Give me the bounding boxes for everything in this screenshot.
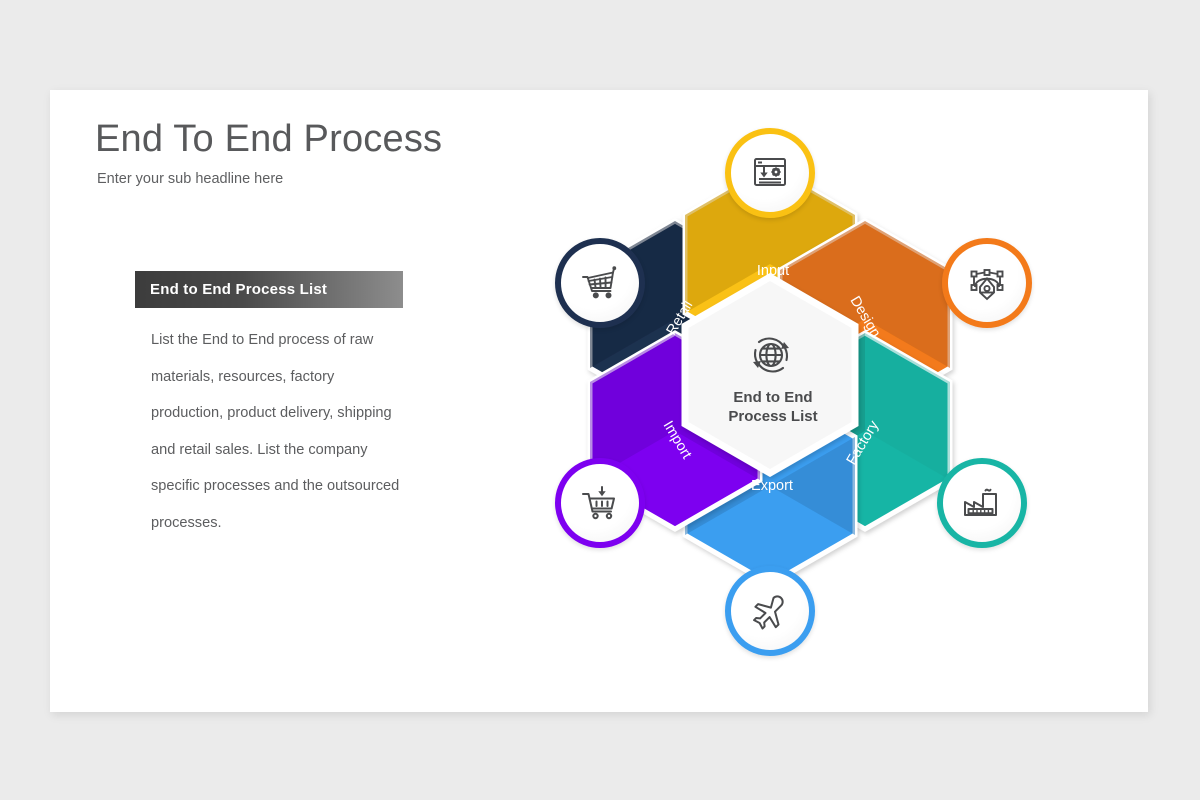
shopping-cart-icon (578, 261, 622, 305)
slide-canvas: End To End Process Enter your sub headli… (50, 90, 1148, 712)
page-title: End To End Process (95, 118, 442, 161)
center-hexagon-label: End to End Process List (703, 388, 843, 426)
factory-icon (960, 481, 1004, 525)
center-label-line2: Process List (703, 407, 843, 426)
list-header-bar: End to End Process List (135, 271, 403, 308)
icon-bubble-design[interactable] (942, 238, 1032, 328)
list-body-text: List the End to End process of raw mater… (151, 322, 403, 541)
icon-bubble-factory[interactable] (937, 458, 1027, 548)
icon-bubble-import[interactable] (555, 458, 645, 548)
window-download-gear-icon (748, 151, 792, 195)
center-label-line1: End to End (703, 388, 843, 407)
airplane-icon (748, 589, 792, 633)
globe-refresh-icon (745, 329, 797, 386)
icon-bubble-export[interactable] (725, 566, 815, 656)
hexagon-process-diagram: Input Design Factory Export Import Retai… (505, 110, 1035, 690)
icon-bubble-retail[interactable] (555, 238, 645, 328)
pen-tool-icon (965, 261, 1009, 305)
cart-download-icon (578, 481, 622, 525)
page-subtitle: Enter your sub headline here (97, 171, 283, 187)
list-header-label: End to End Process List (150, 281, 327, 298)
icon-bubble-input[interactable] (725, 128, 815, 218)
